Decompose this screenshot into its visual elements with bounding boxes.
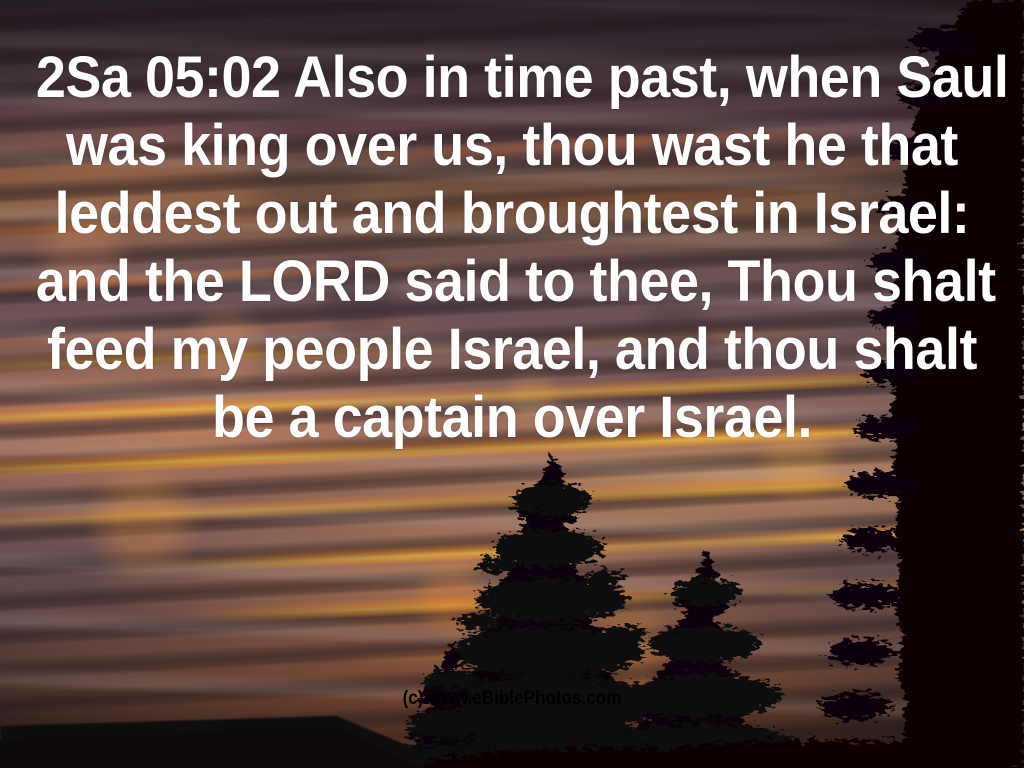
verse-image-canvas: 2Sa 05:02 Also in time past, when Saul w… [0, 0, 1024, 768]
verse-line-6: be a captain over Israel. [36, 384, 988, 452]
verse-line-2: was king over us, thou wast he that [36, 112, 988, 180]
verse-line-4: and the LORD said to thee, Thou shalt [36, 248, 988, 316]
verse-text-block: 2Sa 05:02 Also in time past, when Saul w… [36, 44, 988, 452]
rooftop-silhouette [0, 716, 462, 768]
verse-line-3: leddest out and broughtest in Israel: [36, 180, 988, 248]
verse-line-1: 2Sa 05:02 Also in time past, when Saul [36, 44, 988, 112]
verse-line-5: feed my people Israel, and thou shalt [36, 316, 988, 384]
copyright-watermark: (c) www.eBiblePhotos.com [51, 688, 973, 710]
